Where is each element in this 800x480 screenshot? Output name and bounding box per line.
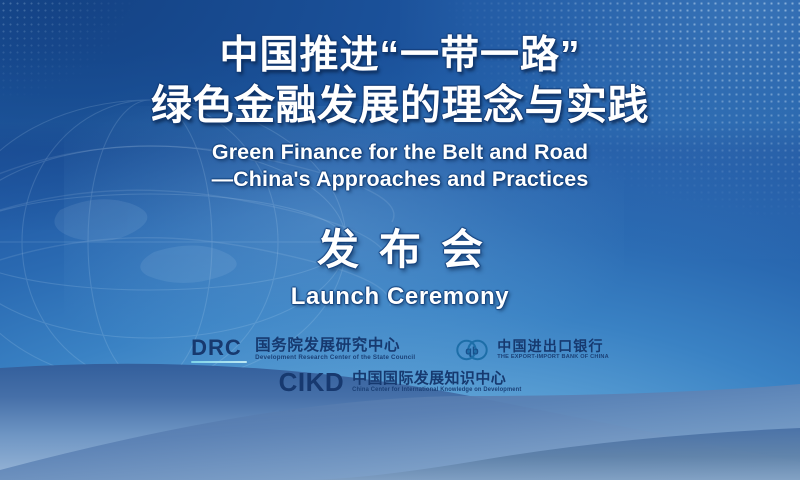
logo-cikd: CIKD 中国国际发展知识中心 China Center for Interna…: [279, 369, 522, 395]
cikd-wordmark: CIKD: [279, 369, 345, 395]
cikd-name-english: China Center for International Knowledge…: [352, 388, 521, 394]
title-chinese-line1: 中国推进“一带一路”: [151, 32, 649, 80]
svg-text:qb: qb: [466, 345, 480, 357]
title-english-line2: —China's Approaches and Practices: [212, 166, 589, 193]
eximbank-text: 中国进出口银行 THE EXPORT-IMPORT BANK OF CHINA: [497, 339, 609, 361]
ceremony-label-english: Launch Ceremony: [291, 283, 509, 311]
logo-row-primary: DRC 国务院发展研究中心 Development Research Cente…: [191, 337, 609, 364]
content-stack: 中国推进“一带一路” 绿色金融发展的理念与实践 Green Finance fo…: [0, 0, 800, 480]
drc-wordmark-block: DRC: [191, 337, 247, 364]
cikd-name-chinese: 中国国际发展知识中心: [352, 371, 521, 386]
logo-drc: DRC 国务院发展研究中心 Development Research Cente…: [191, 337, 415, 364]
event-backdrop: 中国推进“一带一路” 绿色金融发展的理念与实践 Green Finance fo…: [0, 0, 800, 480]
eximbank-name-english: THE EXPORT-IMPORT BANK OF CHINA: [497, 355, 609, 361]
drc-accent-rule: [191, 361, 247, 364]
eximbank-name-chinese: 中国进出口银行: [497, 339, 609, 353]
drc-text: 国务院发展研究中心 Development Research Center of…: [255, 338, 415, 362]
title-chinese: 中国推进“一带一路” 绿色金融发展的理念与实践: [151, 32, 649, 130]
title-chinese-line2: 绿色金融发展的理念与实践: [151, 80, 649, 130]
eximbank-emblem-icon: qb: [455, 337, 489, 363]
logo-group: DRC 国务院发展研究中心 Development Research Cente…: [191, 337, 609, 396]
title-english: Green Finance for the Belt and Road —Chi…: [212, 139, 589, 193]
ceremony-label-chinese: 发布会: [297, 216, 503, 277]
title-english-line1: Green Finance for the Belt and Road: [212, 139, 589, 166]
drc-name-chinese: 国务院发展研究中心: [255, 338, 415, 354]
cikd-text: 中国国际发展知识中心 China Center for Internationa…: [352, 371, 521, 394]
logo-row-secondary: CIKD 中国国际发展知识中心 China Center for Interna…: [279, 369, 522, 395]
drc-wordmark: DRC: [191, 337, 242, 359]
logo-eximbank: qb 中国进出口银行 THE EXPORT-IMPORT BANK OF CHI…: [455, 337, 609, 363]
drc-name-english: Development Research Center of the State…: [255, 355, 415, 362]
